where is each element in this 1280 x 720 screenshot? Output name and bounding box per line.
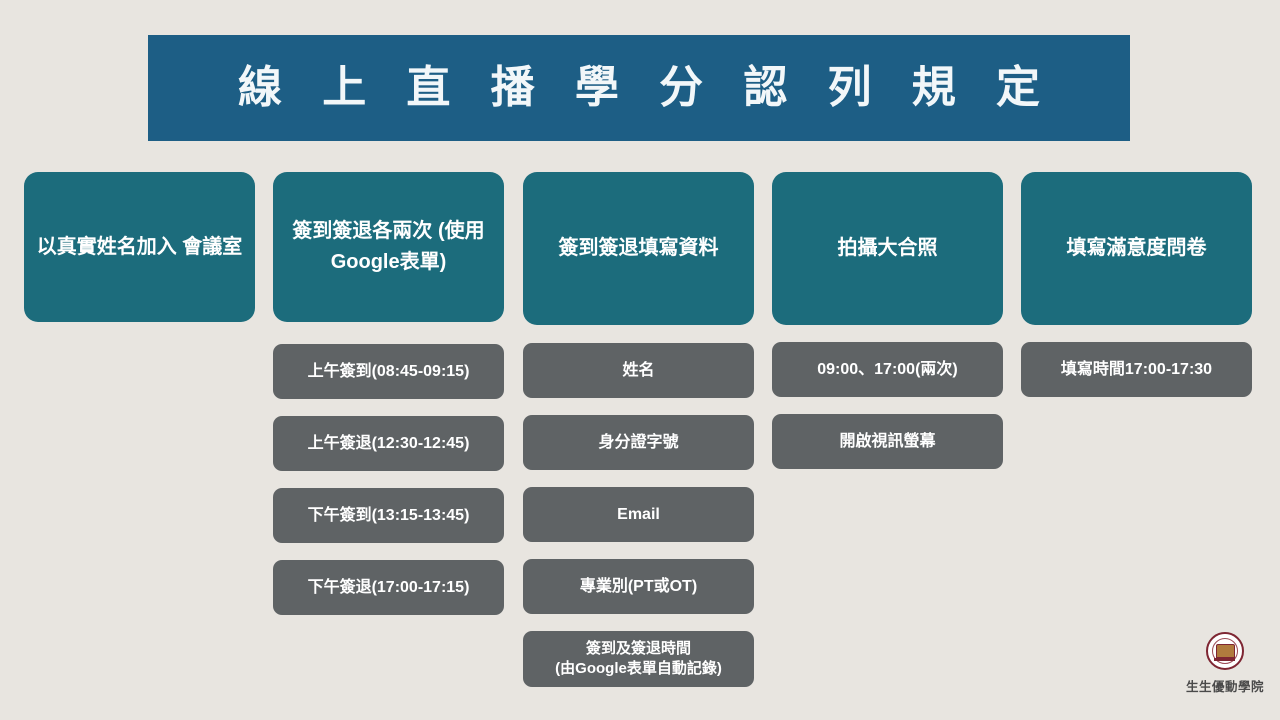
column-form-fields: 簽到簽退填寫資料 姓名 身分證字號 Email 專業別(PT或OT) 簽到及簽退… — [523, 172, 754, 704]
list-item: Email — [523, 487, 754, 542]
column-header-survey: 填寫滿意度問卷 — [1021, 172, 1252, 325]
column-items-group-photo: 09:00、17:00(兩次) 開啟視訊螢幕 — [772, 325, 1003, 469]
list-item: 09:00、17:00(兩次) — [772, 342, 1003, 397]
column-header-group-photo: 拍攝大合照 — [772, 172, 1003, 325]
page-title: 線 上 直 播 學 分 認 列 規 定 — [224, 66, 1054, 110]
column-header-signin-signout: 簽到簽退各兩次 (使用Google表單) — [273, 172, 504, 322]
column-items-signin-signout: 上午簽到(08:45-09:15) 上午簽退(12:30-12:45) 下午簽到… — [273, 322, 504, 615]
title-banner: 線 上 直 播 學 分 認 列 規 定 — [148, 35, 1130, 141]
column-header-join-meeting: 以真實姓名加入 會議室 — [24, 172, 255, 322]
list-item: 上午簽到(08:45-09:15) — [273, 344, 504, 399]
columns-container: 以真實姓名加入 會議室 簽到簽退各兩次 (使用Google表單) 上午簽到(08… — [0, 172, 1280, 712]
logo-caption: 生生優動學院 — [1186, 676, 1264, 695]
list-item: 專業別(PT或OT) — [523, 559, 754, 614]
column-items-survey: 填寫時間17:00-17:30 — [1021, 325, 1252, 397]
column-group-photo: 拍攝大合照 09:00、17:00(兩次) 開啟視訊螢幕 — [772, 172, 1003, 486]
list-item: 下午簽退(17:00-17:15) — [273, 560, 504, 615]
column-join-meeting: 以真實姓名加入 會議室 — [24, 172, 255, 322]
column-items-form-fields: 姓名 身分證字號 Email 專業別(PT或OT) 簽到及簽退時間 (由Goog… — [523, 325, 754, 687]
list-item: 填寫時間17:00-17:30 — [1021, 342, 1252, 397]
column-header-form-fields: 簽到簽退填寫資料 — [523, 172, 754, 325]
seal-inner-shape-icon — [1216, 644, 1235, 658]
list-item: 身分證字號 — [523, 415, 754, 470]
list-item: 下午簽到(13:15-13:45) — [273, 488, 504, 543]
list-item: 上午簽退(12:30-12:45) — [273, 416, 504, 471]
list-item: 姓名 — [523, 343, 754, 398]
list-item: 開啟視訊螢幕 — [772, 414, 1003, 469]
seal-emblem-icon — [1206, 632, 1244, 670]
list-item: 簽到及簽退時間 (由Google表單自動記錄) — [523, 631, 754, 687]
column-signin-signout: 簽到簽退各兩次 (使用Google表單) 上午簽到(08:45-09:15) 上… — [273, 172, 504, 632]
organization-logo: 生生優動學院 — [1180, 632, 1270, 704]
column-survey: 填寫滿意度問卷 填寫時間17:00-17:30 — [1021, 172, 1252, 414]
